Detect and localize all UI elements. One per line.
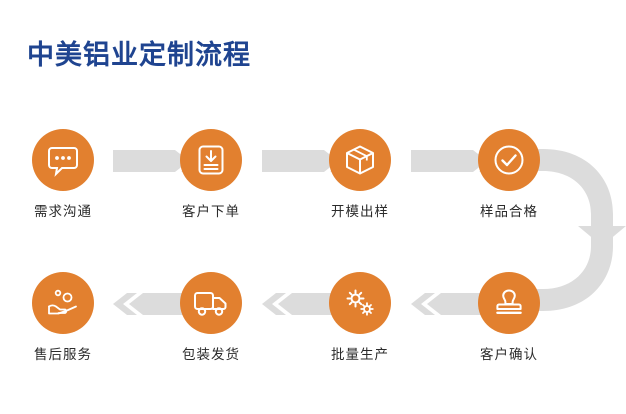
flow-step-3-label: 开模出样 [312, 205, 408, 219]
flow-step-6-circle[interactable] [329, 272, 391, 334]
flow-step-8[interactable]: 售后服务 [15, 272, 111, 362]
flow-step-4-label: 样品合格 [461, 205, 557, 219]
stamp-icon [493, 287, 525, 319]
flow-step-1[interactable]: 需求沟通 [15, 129, 111, 219]
flow-step-3-circle[interactable] [329, 129, 391, 191]
hand-support-icon [45, 286, 81, 320]
infographic-canvas: 中美铝业定制流程 [0, 0, 626, 414]
page-title: 中美铝业定制流程 [27, 42, 251, 69]
flow-step-5-circle[interactable] [478, 272, 540, 334]
flow-step-7-circle[interactable] [180, 272, 242, 334]
flow-step-4-circle[interactable] [478, 129, 540, 191]
flow-step-2-circle[interactable] [180, 129, 242, 191]
flow-step-1-circle[interactable] [32, 129, 94, 191]
flow-step-7-label: 包装发货 [163, 348, 259, 362]
check-circle-icon [492, 143, 526, 177]
flow-step-2-label: 客户下单 [163, 205, 259, 219]
flow-step-1-label: 需求沟通 [15, 205, 111, 219]
flow-step-8-circle[interactable] [32, 272, 94, 334]
package-box-icon [343, 143, 377, 177]
document-download-icon [194, 143, 228, 177]
flow-step-5-label: 客户确认 [461, 348, 557, 362]
flow-step-8-label: 售后服务 [15, 348, 111, 362]
delivery-truck-icon [193, 288, 229, 318]
flow-step-6-label: 批量生产 [312, 348, 408, 362]
gears-icon [343, 287, 377, 319]
speech-bubble-icon [46, 143, 80, 177]
